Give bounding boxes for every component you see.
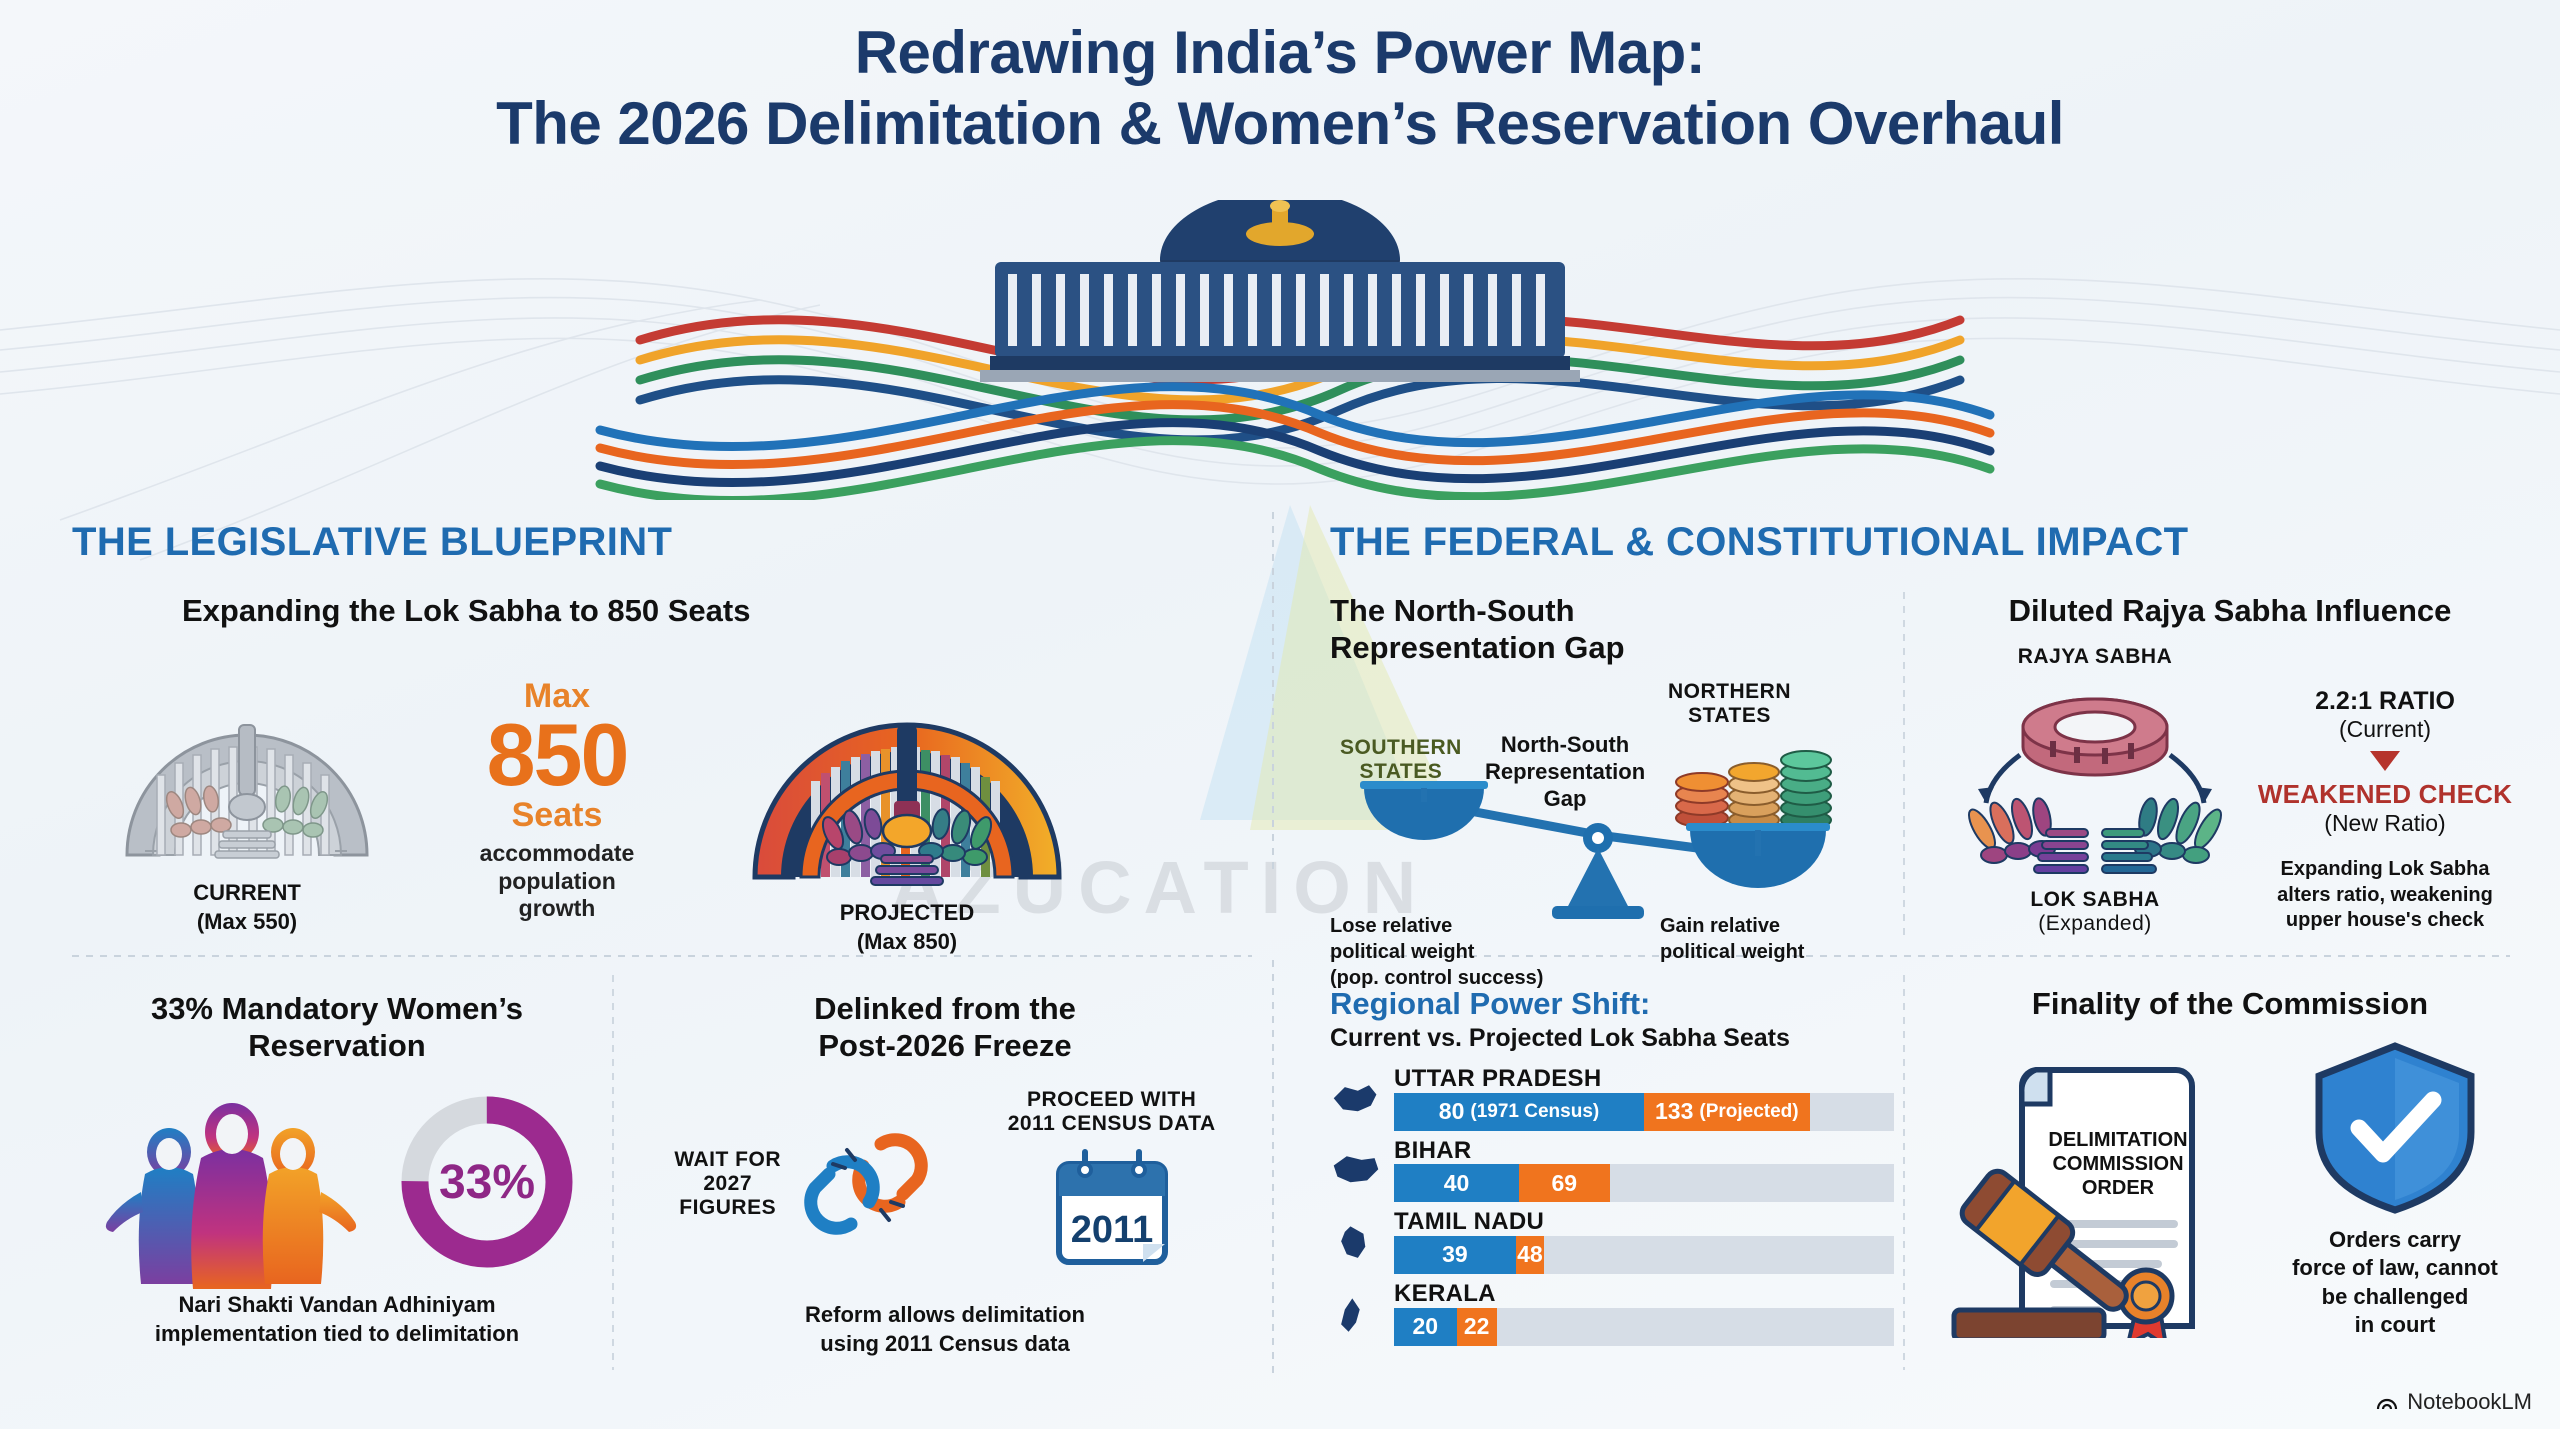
regional-title: Regional Power Shift: [1330,985,1890,1022]
doc-line-1: DELIMITATION [2048,1129,2187,1151]
bar-segment-projected: 22 [1457,1308,1497,1346]
bar-segment-projected: 133(Projected) [1644,1093,1810,1131]
scale-balance-icon [1330,680,1890,920]
wait-2027-label: WAIT FOR 2027 FIGURES [674,1148,781,1220]
northsouth-title-line2: Representation Gap [1330,629,1890,666]
seats-word: Seats [422,797,692,834]
max-seats-group: Max 850 Seats accommodate population gro… [422,655,692,923]
current-chamber-group: CURRENT (Max 550) [72,655,422,936]
panel-finality: Finality of the Commission DELIMITATION … [1940,985,2520,1339]
donut-value-label: 33% [439,1156,535,1209]
delinked-title-line1: Delinked from the [640,990,1250,1027]
bar-segment-projected: 69 [1519,1164,1610,1202]
doc-line-2: COMMISSION [2052,1153,2183,1175]
rajya-lok-sabha-icon [1950,669,2240,879]
delinked-caption-line1: Reform allows delimitation [640,1301,1250,1330]
three-women-icon [87,1074,387,1289]
projected-sublabel: (Max 850) [692,928,1122,957]
notebooklm-badge: NotebookLM [2375,1389,2532,1415]
regional-bar-chart: UTTAR PRADESH80(1971 Census)133(Projecte… [1330,1065,1890,1345]
notebooklm-logo-icon [2375,1390,2399,1414]
panel-north-south-gap: The North-South Representation Gap NORTH… [1330,592,1890,991]
doc-line-3: ORDER [2082,1177,2155,1199]
ratio-value: 2.2:1 RATIO [2250,687,2520,716]
bar-row: UTTAR PRADESH80(1971 Census)133(Projecte… [1330,1065,1890,1131]
gain-weight-caption: Gain relative political weight [1660,914,1890,991]
title-line-1: Redrawing India’s Power Map: [0,18,2560,89]
panel-delinked: Delinked from the Post-2026 Freeze WAIT … [640,990,1250,1359]
down-arrow-icon [2370,751,2400,771]
calendar-2011-icon: 2011 [1047,1144,1177,1274]
divider-vertical-left-inner [612,975,614,1370]
state-map-icon [1330,1223,1382,1274]
shield-check-icon [2305,1036,2485,1216]
calendar-year-text: 2011 [1070,1209,1152,1251]
bar-segment-current: 40 [1394,1164,1519,1202]
bar-segment-projected: 48 [1516,1236,1544,1274]
finality-caption: Orders carry force of law, cannot be cha… [2270,1226,2520,1339]
state-map-icon [1330,1080,1382,1131]
bar-track: 2022 [1394,1308,1894,1346]
lok-sabha-sublabel: (Expanded) [1940,912,2250,936]
bar-state-label: UTTAR PRADESH [1394,1065,1894,1093]
panel-regional-power-shift: Regional Power Shift: Current vs. Projec… [1330,985,1890,1352]
panel-rajya-sabha: Diluted Rajya Sabha Influence RAJYA SABH… [1940,592,2520,936]
coin-stack-gold [1729,763,1779,829]
panel-womens-reservation: 33% Mandatory Women’s Reservation [72,990,602,1349]
bar-track: 80(1971 Census)133(Projected) [1394,1093,1894,1131]
divider-vertical-right-inner-bottom [1903,975,1905,1370]
gavel-document-icon: DELIMITATION COMMISSION ORDER [1940,1038,2270,1338]
women-caption-line2: implementation tied to delimitation [72,1320,602,1349]
bar-segment-current: 20 [1394,1308,1457,1346]
section-heading-right: THE FEDERAL & CONSTITUTIONAL IMPACT [1330,520,2188,565]
divider-vertical-right-inner-top [1903,592,1905,937]
title-line-2: The 2026 Delimitation & Women’s Reservat… [0,89,2560,160]
bar-segment-current: 39 [1394,1236,1516,1274]
weakened-check-label: WEAKENED CHECK [2250,779,2520,810]
coin-stack-green [1781,751,1831,829]
rajyasabha-note: Expanding Lok Sabha alters ratio, weaken… [2250,857,2520,934]
projected-chamber-icon [737,655,1077,887]
women-title-line1: 33% Mandatory Women’s [72,990,602,1027]
expansion-title: Expanding the Lok Sabha to 850 Seats [72,592,1252,629]
max-number: 850 [422,713,692,797]
proceed-2011-label: PROCEED WITH 2011 CENSUS DATA [1008,1088,1216,1136]
regional-subtitle: Current vs. Projected Lok Sabha Seats [1330,1024,1890,1053]
lok-sabha-label: LOK SABHA [1940,888,2250,912]
page-title: Redrawing India’s Power Map: The 2026 De… [0,18,2560,160]
state-map-icon [1330,1151,1382,1202]
divider-vertical-main [1272,512,1274,872]
bar-track: 3948 [1394,1236,1894,1274]
rajya-lok-diagram: RAJYA SABHA [1940,645,2250,936]
donut-chart-33-percent: 33% [387,1082,587,1282]
bar-track: 4069 [1394,1164,1894,1202]
current-sublabel: (Max 550) [72,908,422,937]
delinked-title-line2: Post-2026 Freeze [640,1027,1250,1064]
panel-expansion: Expanding the Lok Sabha to 850 Seats [72,592,1252,956]
bar-state-label: TAMIL NADU [1394,1208,1894,1236]
women-caption-line1: Nari Shakti Vandan Adhiniyam [72,1291,602,1320]
bar-row: KERALA2022 [1330,1280,1890,1346]
max-description: accommodate population growth [422,840,692,923]
bar-state-label: KERALA [1394,1280,1894,1308]
weakened-sublabel: (New Ratio) [2250,810,2520,837]
northsouth-title-line1: The North-South [1330,592,1890,629]
women-title-line2: Reservation [72,1027,602,1064]
bar-state-label: BIHAR [1394,1137,1894,1165]
projected-chamber-group: PROJECTED (Max 850) [692,655,1122,956]
rajya-sabha-label: RAJYA SABHA [1940,645,2250,669]
current-label: CURRENT [72,879,422,908]
ratio-group: 2.2:1 RATIO (Current) WEAKENED CHECK (Ne… [2250,645,2520,936]
bar-row: TAMIL NADU3948 [1330,1208,1890,1274]
finality-title: Finality of the Commission [1940,985,2520,1022]
state-map-icon [1330,1295,1382,1346]
bar-row: BIHAR4069 [1330,1137,1890,1203]
ratio-sublabel: (Current) [2250,716,2520,743]
bar-segment-current: 80(1971 Census) [1394,1093,1644,1131]
notebooklm-label: NotebookLM [2407,1389,2532,1415]
divider-vertical-main-lower [1272,960,1274,1380]
coin-stack-red [1676,773,1728,827]
delinked-caption-line2: using 2011 Census data [640,1330,1250,1359]
section-heading-left: THE LEGISLATIVE BLUEPRINT [72,520,672,565]
lose-weight-caption: Lose relative political weight (pop. con… [1330,914,1580,991]
broken-chain-icon [789,1114,939,1254]
current-chamber-icon [97,655,397,865]
rajyasabha-title: Diluted Rajya Sabha Influence [1940,592,2520,629]
projected-label: PROJECTED [692,899,1122,928]
parliament-hero-illustration [0,200,2560,500]
